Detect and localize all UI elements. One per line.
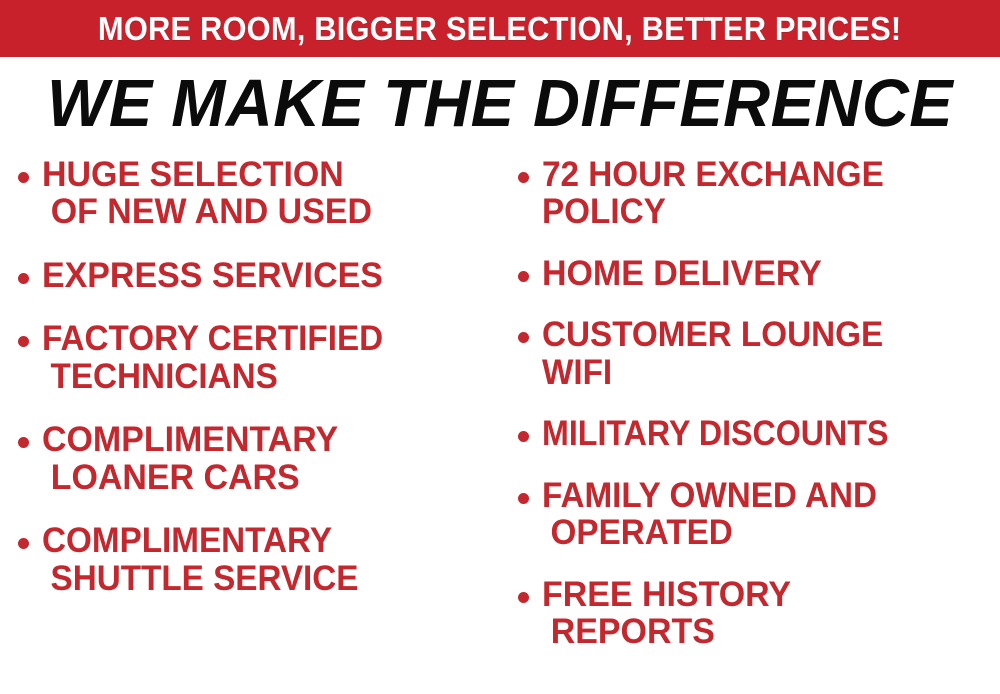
list-item: CUSTOMER LOUNGEWIFI [518, 316, 998, 391]
bullet-dot-icon [518, 431, 529, 442]
list-item: COMPLIMENTARYSHUTTLE SERVICE [18, 522, 492, 597]
list-item-label: 72 HOUR EXCHANGEPOLICY [542, 156, 975, 231]
list-item-line1: FREE HISTORY [542, 575, 791, 614]
list-item-label: HUGE SELECTIONOF NEW AND USED [42, 156, 479, 231]
list-item-line2: LOANER CARS [42, 458, 300, 497]
list-item: FAMILY OWNED ANDOPERATED [518, 477, 998, 552]
list-item-label: HOME DELIVERY [542, 255, 984, 292]
list-item: FREE HISTORYREPORTS [518, 576, 998, 651]
list-item-line2: OF NEW AND USED [42, 192, 372, 231]
benefits-columns: HUGE SELECTIONOF NEW AND USED EXPRESS SE… [0, 156, 1000, 694]
list-item-label: MILITARY DISCOUNTS [542, 415, 962, 452]
list-item-line1: FACTORY CERTIFIED [42, 319, 383, 358]
list-item-line2: SHUTTLE SERVICE [42, 559, 358, 598]
list-item-label: FAMILY OWNED ANDOPERATED [542, 477, 975, 552]
list-item-line1: COMPLIMENTARY [42, 420, 338, 459]
list-item-line1: EXPRESS SERVICES [42, 256, 383, 295]
page-title: WE MAKE THE DIFFERENCE [47, 70, 953, 137]
list-item-label: FACTORY CERTIFIEDTECHNICIANS [42, 320, 470, 395]
list-item-line2: TECHNICIANS [42, 357, 278, 396]
bullet-dot-icon [18, 336, 29, 347]
list-item-line1: 72 HOUR EXCHANGE [542, 155, 884, 194]
promo-banner-text: MORE ROOM, BIGGER SELECTION, BETTER PRIC… [98, 12, 901, 45]
list-item-line2: WIFI [542, 353, 612, 392]
benefits-column-right: 72 HOUR EXCHANGEPOLICY HOME DELIVERY CUS… [500, 156, 1000, 650]
list-item: EXPRESS SERVICES [18, 257, 492, 294]
bullet-dot-icon [18, 273, 29, 284]
list-item: COMPLIMENTARYLOANER CARS [18, 421, 492, 496]
bullet-dot-icon [18, 172, 29, 183]
list-item-line2: OPERATED [542, 513, 733, 552]
headline-container: WE MAKE THE DIFFERENCE [0, 62, 1000, 144]
list-item-label: FREE HISTORYREPORTS [542, 576, 984, 651]
bullet-dot-icon [518, 332, 529, 343]
list-item-label: CUSTOMER LOUNGEWIFI [542, 316, 975, 391]
list-item-line1: COMPLIMENTARY [42, 521, 332, 560]
list-item-line1: MILITARY DISCOUNTS [542, 414, 888, 453]
bullet-dot-icon [18, 538, 29, 549]
list-item-label: EXPRESS SERVICES [42, 257, 479, 294]
list-item: HOME DELIVERY [518, 255, 998, 292]
promo-banner: MORE ROOM, BIGGER SELECTION, BETTER PRIC… [0, 0, 1000, 57]
list-item-line1: HUGE SELECTION [42, 155, 344, 194]
list-item: HUGE SELECTIONOF NEW AND USED [18, 156, 492, 231]
bullet-dot-icon [518, 493, 529, 504]
bullet-dot-icon [518, 592, 529, 603]
list-item-label: COMPLIMENTARYSHUTTLE SERVICE [42, 522, 470, 597]
list-item-line2: POLICY [542, 192, 666, 231]
list-item-label: COMPLIMENTARYLOANER CARS [42, 421, 479, 496]
list-item: MILITARY DISCOUNTS [518, 415, 998, 452]
list-item-line2: REPORTS [542, 612, 715, 651]
list-item-line1: FAMILY OWNED AND [542, 476, 877, 515]
list-item: FACTORY CERTIFIEDTECHNICIANS [18, 320, 492, 395]
bullet-dot-icon [518, 271, 529, 282]
bullet-dot-icon [518, 172, 529, 183]
list-item-line1: HOME DELIVERY [542, 254, 822, 293]
bullet-dot-icon [18, 437, 29, 448]
list-item: 72 HOUR EXCHANGEPOLICY [518, 156, 998, 231]
list-item-line1: CUSTOMER LOUNGE [542, 315, 883, 354]
benefits-column-left: HUGE SELECTIONOF NEW AND USED EXPRESS SE… [0, 156, 500, 597]
